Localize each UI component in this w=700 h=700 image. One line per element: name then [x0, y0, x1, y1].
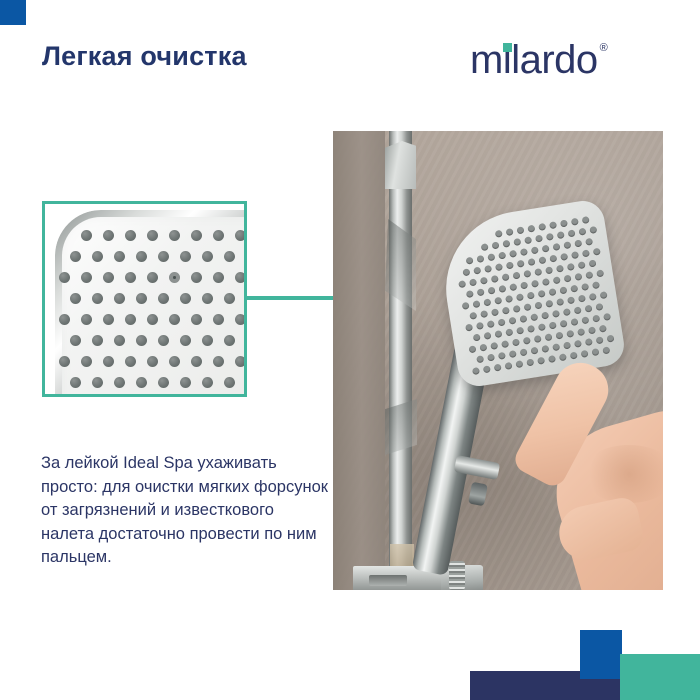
shower-head-dot	[505, 328, 513, 336]
shower-head-dot	[585, 271, 593, 279]
shower-head-dot	[592, 248, 600, 256]
nozzle-dot	[180, 377, 191, 388]
nozzle-dot	[125, 314, 136, 325]
shower-head-dot	[592, 315, 600, 323]
nozzle-dot	[136, 377, 147, 388]
shower-head-dot	[506, 228, 514, 236]
shower-head-dot	[527, 258, 535, 266]
shower-head-dot	[531, 280, 539, 288]
shower-head-dot	[498, 252, 506, 260]
shower-head-dot	[581, 283, 589, 291]
nozzle-dot	[103, 356, 114, 367]
shower-head-dot	[596, 269, 604, 277]
nozzle-dot	[235, 314, 246, 325]
shower-head-dot	[552, 276, 560, 284]
pointing-hand	[515, 327, 663, 590]
nozzle-dot	[235, 272, 246, 283]
shower-head-dot	[527, 225, 535, 233]
shower-head-dot	[592, 281, 600, 289]
shower-head-dot	[505, 262, 513, 270]
nozzle-dot	[213, 356, 224, 367]
nozzle-dot	[103, 272, 114, 283]
nozzle-dot	[246, 251, 247, 262]
shower-head-dot	[513, 272, 521, 280]
shower-head-dot	[509, 283, 517, 291]
shower-head-dot	[516, 226, 524, 234]
shower-head-dot	[462, 268, 470, 276]
nozzle-dot	[70, 251, 81, 262]
nozzle-dot	[213, 272, 224, 283]
nozzle-dot	[114, 293, 125, 304]
shower-head-dot	[589, 226, 597, 234]
nozzle-dot	[191, 356, 202, 367]
shower-head-dot	[560, 219, 568, 227]
shower-head-dot	[581, 249, 589, 257]
nozzle-dot	[180, 293, 191, 304]
shower-head-dot	[559, 286, 567, 294]
nozzle-dot	[81, 230, 92, 241]
shower-head-dot	[495, 230, 503, 238]
shower-head-dot	[472, 334, 480, 342]
shower-head-dot	[589, 259, 597, 267]
shower-head-dot	[524, 236, 532, 244]
nozzle-dot	[246, 335, 247, 346]
nozzle-dot	[158, 335, 169, 346]
shower-head-dot	[502, 273, 510, 281]
shower-head-dot	[570, 318, 578, 326]
shower-head-dot	[563, 241, 571, 249]
shower-head-dot	[578, 261, 586, 269]
registered-trademark-icon: ®	[600, 43, 608, 54]
nozzle-dot	[191, 314, 202, 325]
shower-head-dot	[570, 285, 578, 293]
shower-head-dot	[483, 332, 491, 340]
shower-head-dot	[509, 250, 517, 258]
rail-top-cap	[385, 141, 416, 189]
nozzle-dot	[213, 314, 224, 325]
shower-head-dot	[520, 282, 528, 290]
shower-head-dot	[599, 291, 607, 299]
shower-head-dot	[487, 354, 495, 362]
shower-head-dot	[541, 312, 549, 320]
nozzle-dot	[103, 314, 114, 325]
shower-head-dot	[574, 306, 582, 314]
shower-head-dot	[512, 305, 520, 313]
shower-hose	[449, 561, 465, 590]
shower-head-dot	[480, 243, 488, 251]
shower-head-dot	[480, 310, 488, 318]
shower-head-dot	[483, 298, 491, 306]
shower-head-dot	[476, 355, 484, 363]
shower-head-dot	[491, 308, 499, 316]
shower-head-dot	[501, 340, 509, 348]
rail-bracket-face	[369, 575, 407, 586]
shower-head-dot	[556, 265, 564, 273]
nozzle-dot	[224, 293, 235, 304]
nozzle-dot	[70, 335, 81, 346]
shower-head-dot	[542, 245, 550, 253]
shower-head-dot	[494, 330, 502, 338]
rail-reflection-strip	[390, 544, 414, 568]
nozzle-dot	[136, 251, 147, 262]
shower-head-dot	[523, 303, 531, 311]
nozzle-dot	[114, 335, 125, 346]
nozzle-dot	[202, 293, 213, 304]
nozzle-dot	[92, 377, 103, 388]
shower-head-dot	[491, 242, 499, 250]
nozzle-dot	[191, 230, 202, 241]
decor-square-blue	[580, 630, 622, 679]
brand-accent-dot-icon	[503, 43, 512, 52]
nozzle-dot	[224, 251, 235, 262]
page-title: Легкая очистка	[42, 41, 247, 72]
shower-head-dot	[595, 303, 603, 311]
shower-head-dot	[531, 246, 539, 254]
shower-head-dot	[563, 308, 571, 316]
shower-head-dot	[502, 240, 510, 248]
nozzle-dot	[147, 230, 158, 241]
shower-head-dot	[538, 223, 546, 231]
shower-head-dot	[549, 255, 557, 263]
shower-head-dot	[501, 307, 509, 315]
nozzle-dot	[246, 377, 247, 388]
photo-wall-slab	[333, 131, 385, 590]
shower-head-dot	[516, 260, 524, 268]
nozzle-dot	[169, 314, 180, 325]
shower-head-dot	[545, 300, 553, 308]
decor-square-top-left	[0, 0, 26, 25]
nozzle-dot	[59, 314, 70, 325]
shower-head-dot	[585, 238, 593, 246]
shower-head-dot	[480, 277, 488, 285]
shower-head-dot	[563, 275, 571, 283]
nozzle-dot	[180, 251, 191, 262]
shower-head-dot	[545, 266, 553, 274]
shower-head-dot	[534, 302, 542, 310]
nozzle-dot	[158, 251, 169, 262]
nozzle-dot	[81, 356, 92, 367]
shower-head-dot	[574, 273, 582, 281]
shower-head-dot	[527, 292, 535, 300]
shower-head-dot	[538, 290, 546, 298]
nozzle-dot	[114, 377, 125, 388]
nozzle-dot	[92, 251, 103, 262]
shower-head-dot	[603, 313, 611, 321]
shower-head-dot	[469, 278, 477, 286]
shower-head-dot	[483, 365, 491, 373]
shower-head-dot	[535, 235, 543, 243]
shower-head-dot	[567, 229, 575, 237]
nozzle-dot	[213, 230, 224, 241]
shower-head-dot	[582, 216, 590, 224]
shower-head-dot	[552, 310, 560, 318]
shower-head-dot	[484, 265, 492, 273]
nozzle-dot	[59, 272, 70, 283]
shower-head-dot	[505, 362, 513, 370]
shower-head-dot	[472, 300, 480, 308]
nozzle-dot	[114, 251, 125, 262]
shower-head-dot	[487, 287, 495, 295]
shower-head-dot	[581, 316, 589, 324]
nozzle-dot	[125, 230, 136, 241]
shower-head-dot	[476, 322, 484, 330]
shower-head-dot	[538, 256, 546, 264]
shower-head-dot	[494, 297, 502, 305]
shower-head-dot	[513, 238, 521, 246]
shower-head-dot	[494, 364, 502, 372]
shower-head-dot	[534, 268, 542, 276]
nozzle-dot	[81, 272, 92, 283]
shower-head-dot	[556, 298, 564, 306]
nozzle-dot	[169, 272, 180, 283]
shower-head-dot	[574, 239, 582, 247]
shower-head-dot	[498, 285, 506, 293]
nozzle-dot	[191, 272, 202, 283]
nozzle-dot	[81, 314, 92, 325]
shower-head-dot	[545, 233, 553, 241]
shower-head-dot	[556, 231, 564, 239]
shower-head-dot	[473, 267, 481, 275]
shower-head-dot	[472, 367, 480, 375]
shower-head-dot	[462, 302, 470, 310]
nozzle-dot	[169, 356, 180, 367]
shower-head-dot	[476, 255, 484, 263]
shower-head-dot	[567, 263, 575, 271]
shower-head-dot	[469, 345, 477, 353]
nozzle-dot	[202, 377, 213, 388]
shower-head-dot	[553, 243, 561, 251]
shower-head-dot	[530, 313, 538, 321]
nozzle-dot	[224, 335, 235, 346]
nozzle-dot	[59, 356, 70, 367]
nozzle-dot	[235, 356, 246, 367]
shower-head-dot	[571, 218, 579, 226]
shower-head-dot	[487, 253, 495, 261]
nozzle-dot	[224, 377, 235, 388]
shower-head-dot	[519, 315, 527, 323]
nozzle-dot	[158, 377, 169, 388]
shower-head-dot	[487, 320, 495, 328]
shower-head-dot	[571, 251, 579, 259]
nozzle-dot	[136, 293, 147, 304]
brand-logo: milardo ®	[470, 38, 608, 82]
shower-head-dot	[549, 288, 557, 296]
shower-head-dot	[497, 352, 505, 360]
brand-wordmark: milardo	[470, 38, 598, 82]
decor-square-teal	[620, 654, 700, 700]
nozzle-dot	[202, 335, 213, 346]
nozzle-dot	[136, 335, 147, 346]
shower-head-dot	[491, 275, 499, 283]
nozzle-dot	[169, 230, 180, 241]
body-paragraph: За лейкой Ideal Spa ухаживать просто: дл…	[41, 452, 331, 570]
nozzle-dot	[125, 272, 136, 283]
marketing-slide: Легкая очистка milardo ® За лейкой Ideal…	[0, 0, 700, 700]
shower-head-dot	[479, 344, 487, 352]
nozzle-dot	[147, 356, 158, 367]
nozzle-dot	[70, 293, 81, 304]
nozzle-dot	[70, 377, 81, 388]
shower-head-dot	[494, 263, 502, 271]
nozzle-closeup-callout	[42, 201, 247, 397]
shower-slide-rail	[389, 131, 412, 590]
shower-head-dot	[549, 221, 557, 229]
shower-head-dot	[516, 293, 524, 301]
shower-head-dot	[509, 317, 517, 325]
nozzle-dot	[147, 272, 158, 283]
shower-head-dot	[490, 342, 498, 350]
shower-head-dot	[505, 295, 513, 303]
shower-head-dot	[520, 248, 528, 256]
shower-head-dot	[578, 228, 586, 236]
shower-head-dot	[469, 312, 477, 320]
shower-head-dot	[541, 278, 549, 286]
shower-head-dot	[567, 296, 575, 304]
shower-head-dot	[588, 293, 596, 301]
shower-head-dot	[466, 257, 474, 265]
shower-head-dot	[465, 290, 473, 298]
product-photo	[333, 131, 663, 590]
nozzle-dot	[147, 314, 158, 325]
nozzle-dot	[158, 293, 169, 304]
shower-head-dot	[523, 270, 531, 278]
nozzle-dot	[125, 356, 136, 367]
shower-head-dot	[458, 280, 466, 288]
nozzle-dot	[202, 251, 213, 262]
nozzle-dot	[92, 335, 103, 346]
nozzle-dot	[92, 293, 103, 304]
shower-head-dot	[465, 324, 473, 332]
nozzle-dot	[180, 335, 191, 346]
shower-head-dot	[560, 253, 568, 261]
shower-head-dot	[498, 318, 506, 326]
shower-head-dot	[476, 288, 484, 296]
nozzle-dot	[103, 230, 114, 241]
shower-head-dot	[585, 305, 593, 313]
shower-head-dot	[577, 295, 585, 303]
nozzle-dot	[235, 230, 246, 241]
